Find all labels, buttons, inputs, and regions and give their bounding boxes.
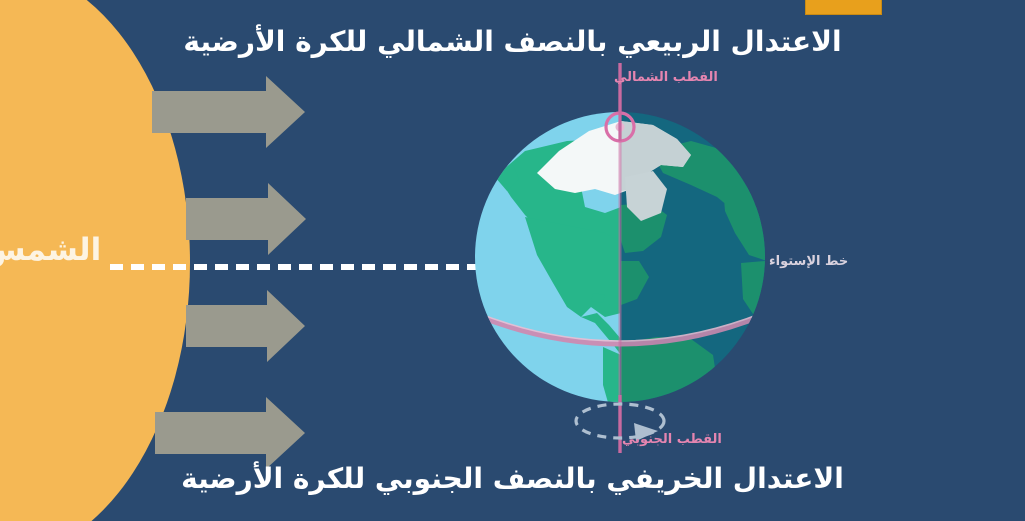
- earth-globe: [455, 55, 785, 455]
- corner-badge: [805, 0, 882, 15]
- sun-ray-arrow-2: [186, 183, 306, 255]
- terminator-shadow: [620, 55, 785, 455]
- page-title-bottom: الاعتدال الخريفي بالنصف الجنوبي للكرة ال…: [0, 462, 1025, 495]
- page-title-top: الاعتدال الربيعي بالنصف الشمالي للكرة ال…: [0, 25, 1025, 58]
- sun-ray-arrow-4: [155, 397, 305, 469]
- sun-ray-arrow-1: [152, 76, 305, 148]
- south-pole-label: القطب الجنوبي: [622, 432, 722, 447]
- equinox-dashed-line: [110, 264, 485, 270]
- equator-label: خط الإستواء: [769, 254, 848, 269]
- illustration-canvas: الشمس: [0, 0, 1025, 521]
- land-south-america-lit: [603, 347, 621, 427]
- sun-ray-arrow-3: [186, 290, 305, 362]
- north-pole-label: القطب الشمالي: [614, 70, 718, 85]
